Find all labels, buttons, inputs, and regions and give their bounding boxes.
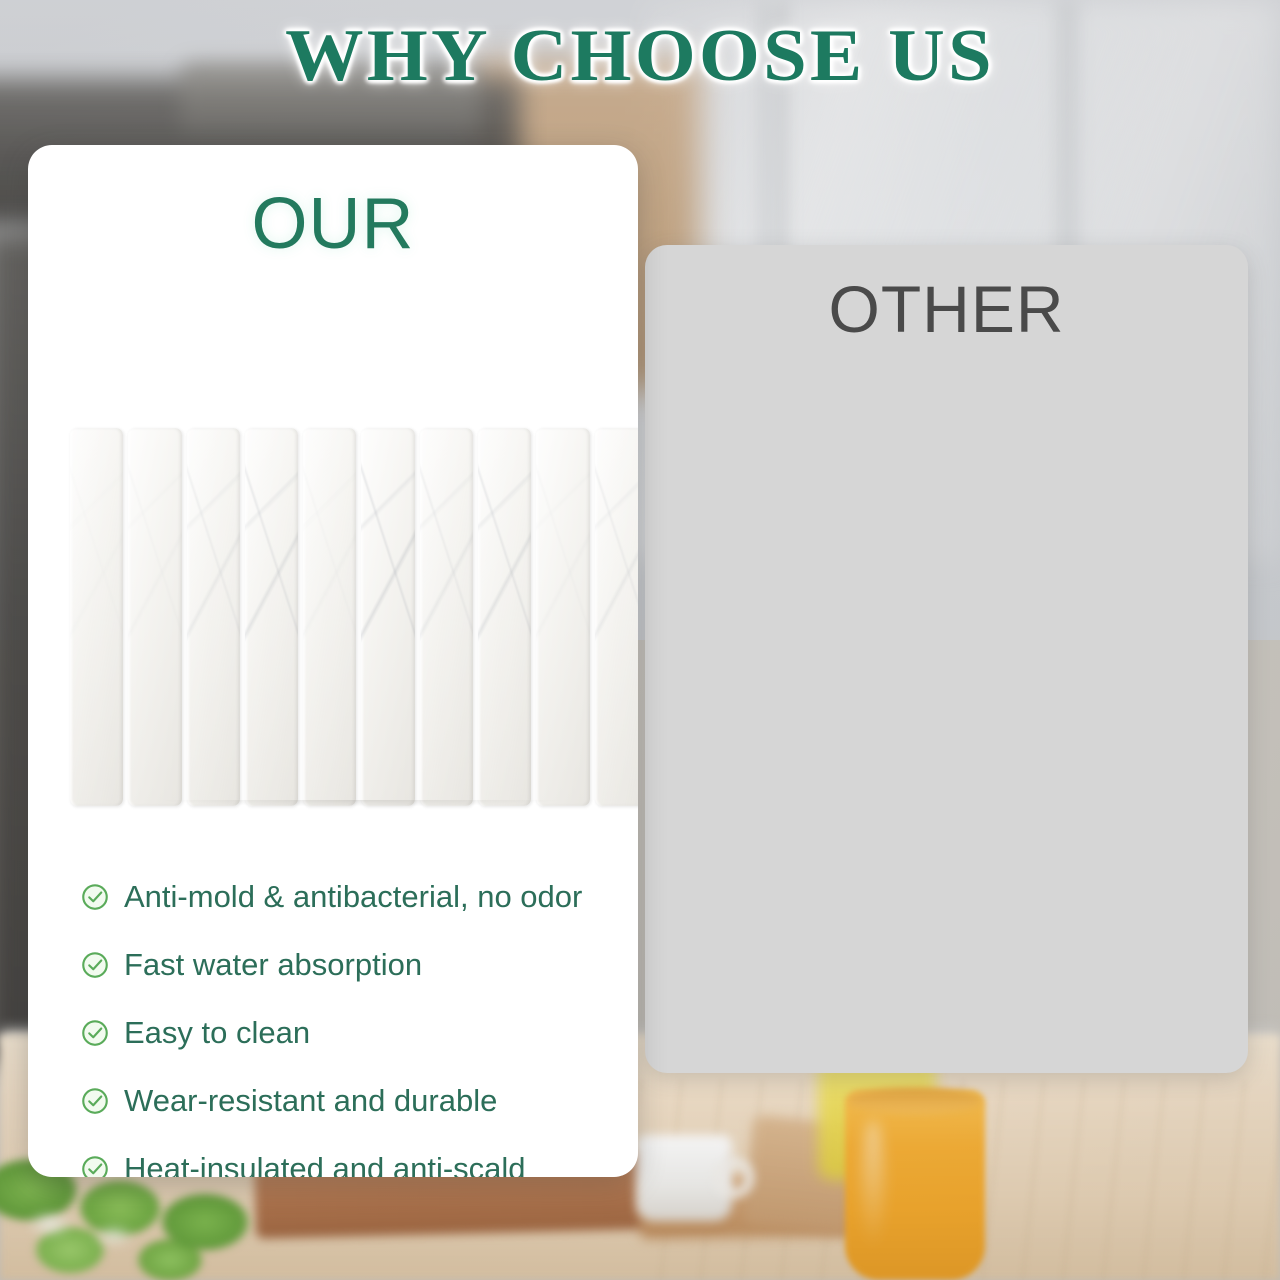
check-circle-icon bbox=[80, 1018, 110, 1048]
mat-slat bbox=[595, 428, 638, 806]
list-item-label: Fast water absorption bbox=[124, 947, 422, 983]
our-panel: OUR Anti-mold & antibacterial, no odor F… bbox=[28, 145, 638, 1177]
mat-slat bbox=[187, 428, 240, 806]
list-item-label: Heat-insulated and anti-scald bbox=[124, 1151, 526, 1177]
list-item: Anti-mold & antibacterial, no odor bbox=[80, 863, 638, 931]
mat-slat bbox=[128, 428, 181, 806]
mat-slat bbox=[478, 428, 531, 806]
our-panel-heading: OUR bbox=[28, 183, 638, 265]
other-panel-heading: OTHER bbox=[645, 271, 1248, 347]
list-item: Heat-insulated and anti-scald bbox=[80, 1135, 638, 1177]
mat-slat bbox=[245, 428, 298, 806]
product-image-slat-mat bbox=[70, 428, 638, 806]
mat-slat bbox=[70, 428, 123, 806]
other-panel: OTHER Prone to bacteria and mold Frequen… bbox=[645, 245, 1248, 1073]
mat-slat bbox=[303, 428, 356, 806]
check-circle-icon bbox=[80, 1086, 110, 1116]
our-benefits-list: Anti-mold & antibacterial, no odor Fast … bbox=[80, 863, 638, 1177]
list-item-label: Anti-mold & antibacterial, no odor bbox=[124, 879, 582, 915]
list-item: Easy to clean bbox=[80, 999, 638, 1067]
mat-slat bbox=[536, 428, 589, 806]
mat-slat bbox=[361, 428, 414, 806]
product-shadow bbox=[70, 800, 638, 816]
list-item: Fast water absorption bbox=[80, 931, 638, 999]
list-item-label: Wear-resistant and durable bbox=[124, 1083, 497, 1119]
check-circle-icon bbox=[80, 1154, 110, 1177]
check-circle-icon bbox=[80, 882, 110, 912]
mat-slat bbox=[420, 428, 473, 806]
list-item-label: Easy to clean bbox=[124, 1015, 310, 1051]
page-title: WHY CHOOSE US bbox=[0, 14, 1280, 99]
list-item: Wear-resistant and durable bbox=[80, 1067, 638, 1135]
check-circle-icon bbox=[80, 950, 110, 980]
